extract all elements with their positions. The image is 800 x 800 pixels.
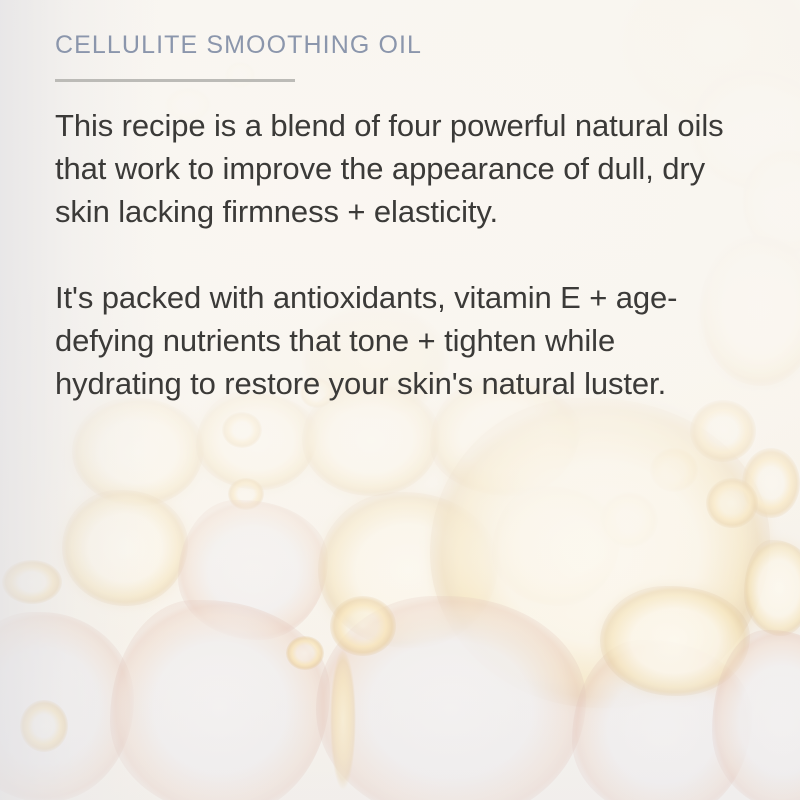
page-title: CELLULITE SMOOTHING OIL: [55, 30, 755, 61]
description-paragraph-2: It's packed with antioxidants, vitamin E…: [55, 276, 745, 405]
body-copy: This recipe is a blend of four powerful …: [55, 104, 755, 405]
title-divider: [55, 79, 295, 82]
card-content: CELLULITE SMOOTHING OIL This recipe is a…: [55, 30, 755, 405]
product-recipe-card: CELLULITE SMOOTHING OIL This recipe is a…: [0, 0, 800, 800]
description-paragraph-1: This recipe is a blend of four powerful …: [55, 104, 745, 233]
